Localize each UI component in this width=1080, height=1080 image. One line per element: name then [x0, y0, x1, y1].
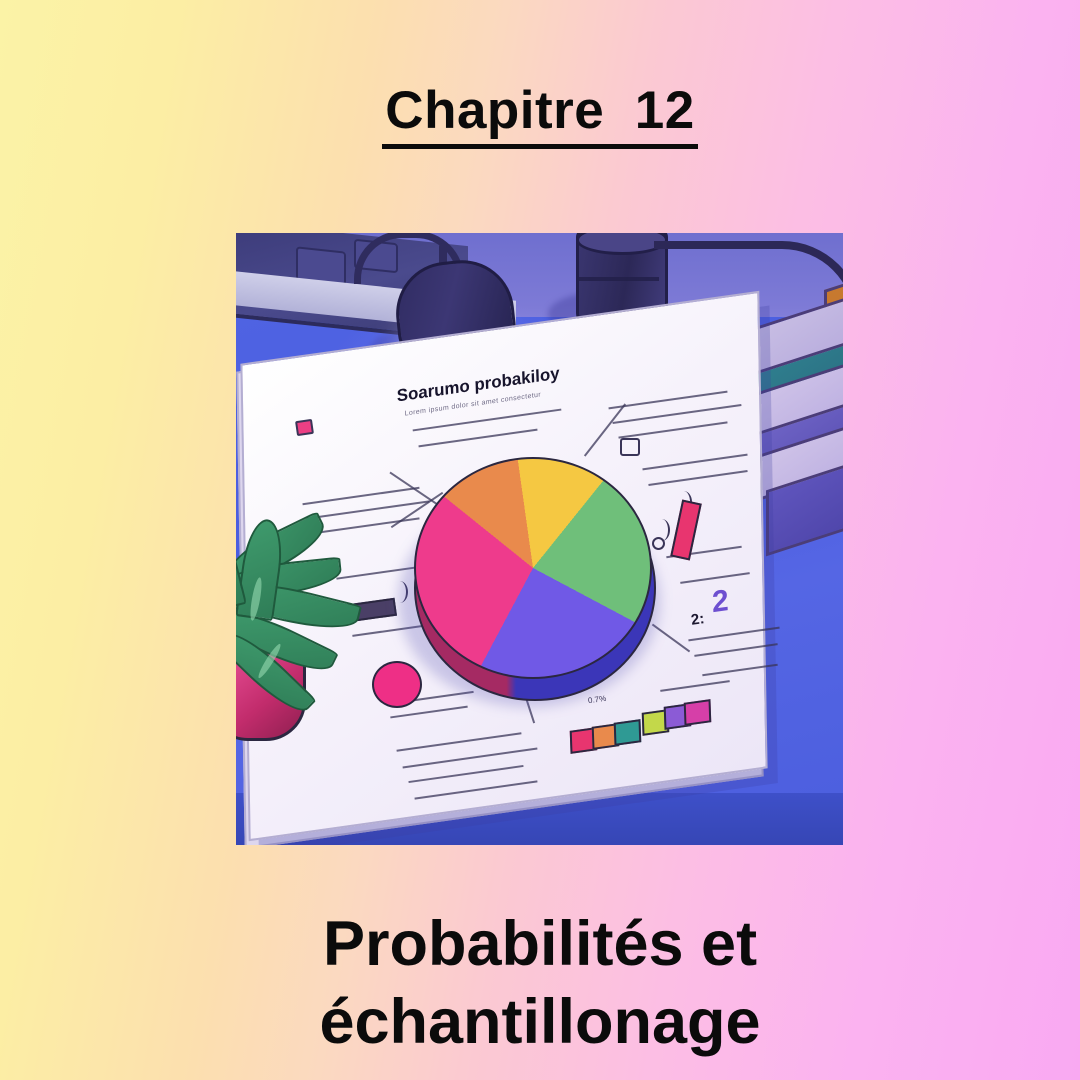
subtitle-line-2: échantillonage: [0, 983, 1080, 1061]
pink-square-marker: [295, 419, 314, 436]
pie-chart: [414, 457, 652, 695]
legend-swatch: [614, 719, 642, 746]
slide-canvas: Chapitre 12: [0, 0, 1080, 1080]
title-block: Chapitre 12: [0, 83, 1080, 149]
page-title: Chapitre 12: [382, 83, 697, 149]
subtitle-block: Probabilités et échantillonage: [0, 905, 1080, 1061]
pen-cup-band: [579, 277, 659, 281]
pie-face: [414, 457, 652, 679]
dot-icon: [652, 537, 665, 550]
legend-swatch: [684, 699, 712, 726]
illustration-image: Soarumo probakiloy Lorem ipsum dolor sit…: [236, 233, 843, 845]
checkbox-icon: [620, 438, 640, 456]
marker-two-glyph: 2: [711, 584, 729, 620]
subtitle-line-1: Probabilités et: [0, 905, 1080, 983]
marker-two-caption: 2:: [690, 610, 706, 629]
